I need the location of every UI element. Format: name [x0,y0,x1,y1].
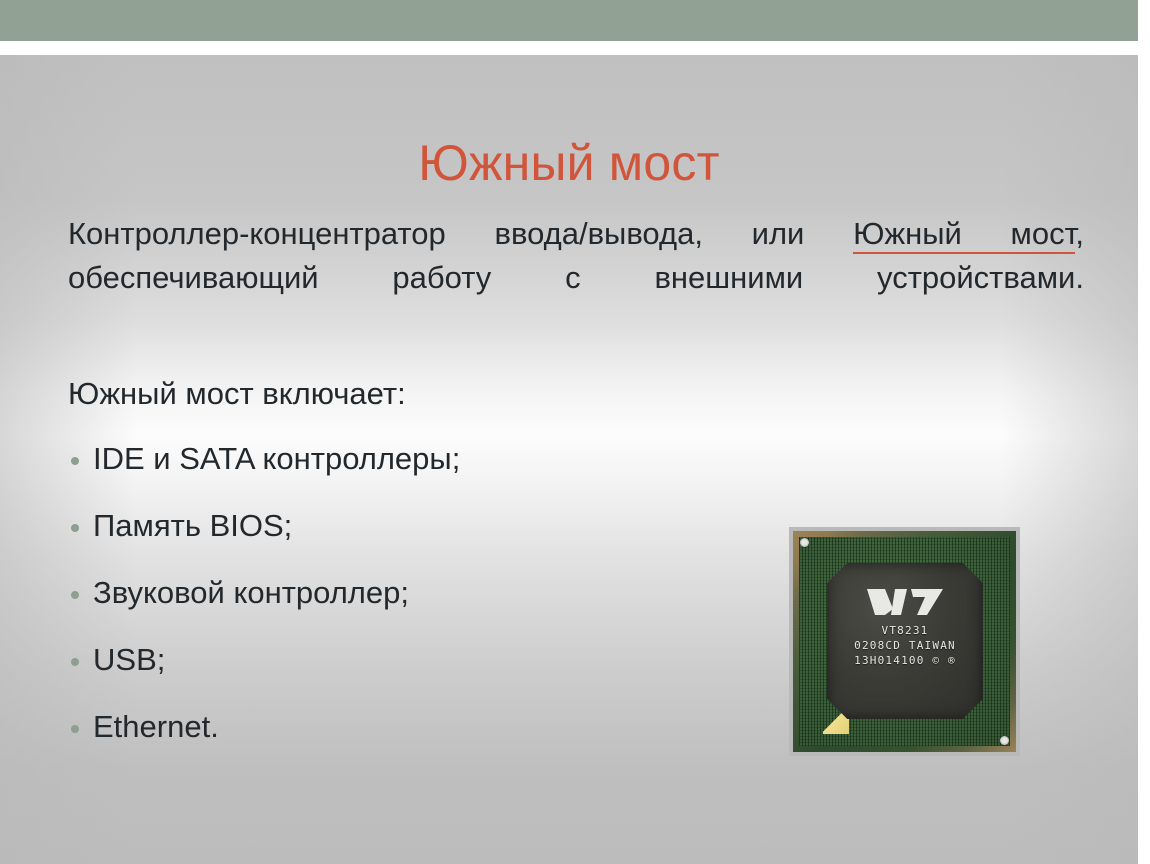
list-item-label: Звуковой контроллер; [93,575,409,610]
bullet-dot-icon [71,591,79,599]
south-bridge-chip-photo: VT8231 0208CD TAIWAN 13H014100 © ® [789,527,1020,756]
list-item-label: Ethernet. [93,709,219,744]
chip-marking-line: 0208CD TAIWAN [827,638,983,653]
list-item-label: Память BIOS; [93,508,292,543]
chip-marking-line: 13H014100 © ® [827,653,983,668]
definition-lead-text: Контроллер-концентратор ввода/вывода, ил… [68,216,853,251]
chip-marking-text: VT8231 0208CD TAIWAN 13H014100 © ® [827,623,983,668]
list-item: IDE и SATA контроллеры; [68,438,1084,480]
bullet-dot-icon [71,658,79,666]
intro-paragraph: Южный мост включает: [68,372,1084,416]
chip-corner-marker-icon [800,538,809,547]
definition-paragraph: Контроллер-концентратор ввода/вывода, ил… [68,212,1084,344]
bullet-dot-icon [71,457,79,465]
bullet-dot-icon [71,725,79,733]
page-title: Южный мост [0,134,1138,192]
slide-top-decorative-band [0,0,1138,41]
via-logo-icon [827,587,983,622]
chip-corner-marker-icon [1000,736,1009,745]
list-item-label: IDE и SATA контроллеры; [93,441,460,476]
list-item-label: USB; [93,642,165,677]
south-bridge-link[interactable]: Южный мост [853,216,1075,254]
chip-marking-line: VT8231 [827,623,983,638]
bullet-dot-icon [71,524,79,532]
chip-die: VT8231 0208CD TAIWAN 13H014100 © ® [827,563,983,719]
presentation-slide: Южный мост Контроллер-концентратор ввода… [0,0,1150,864]
